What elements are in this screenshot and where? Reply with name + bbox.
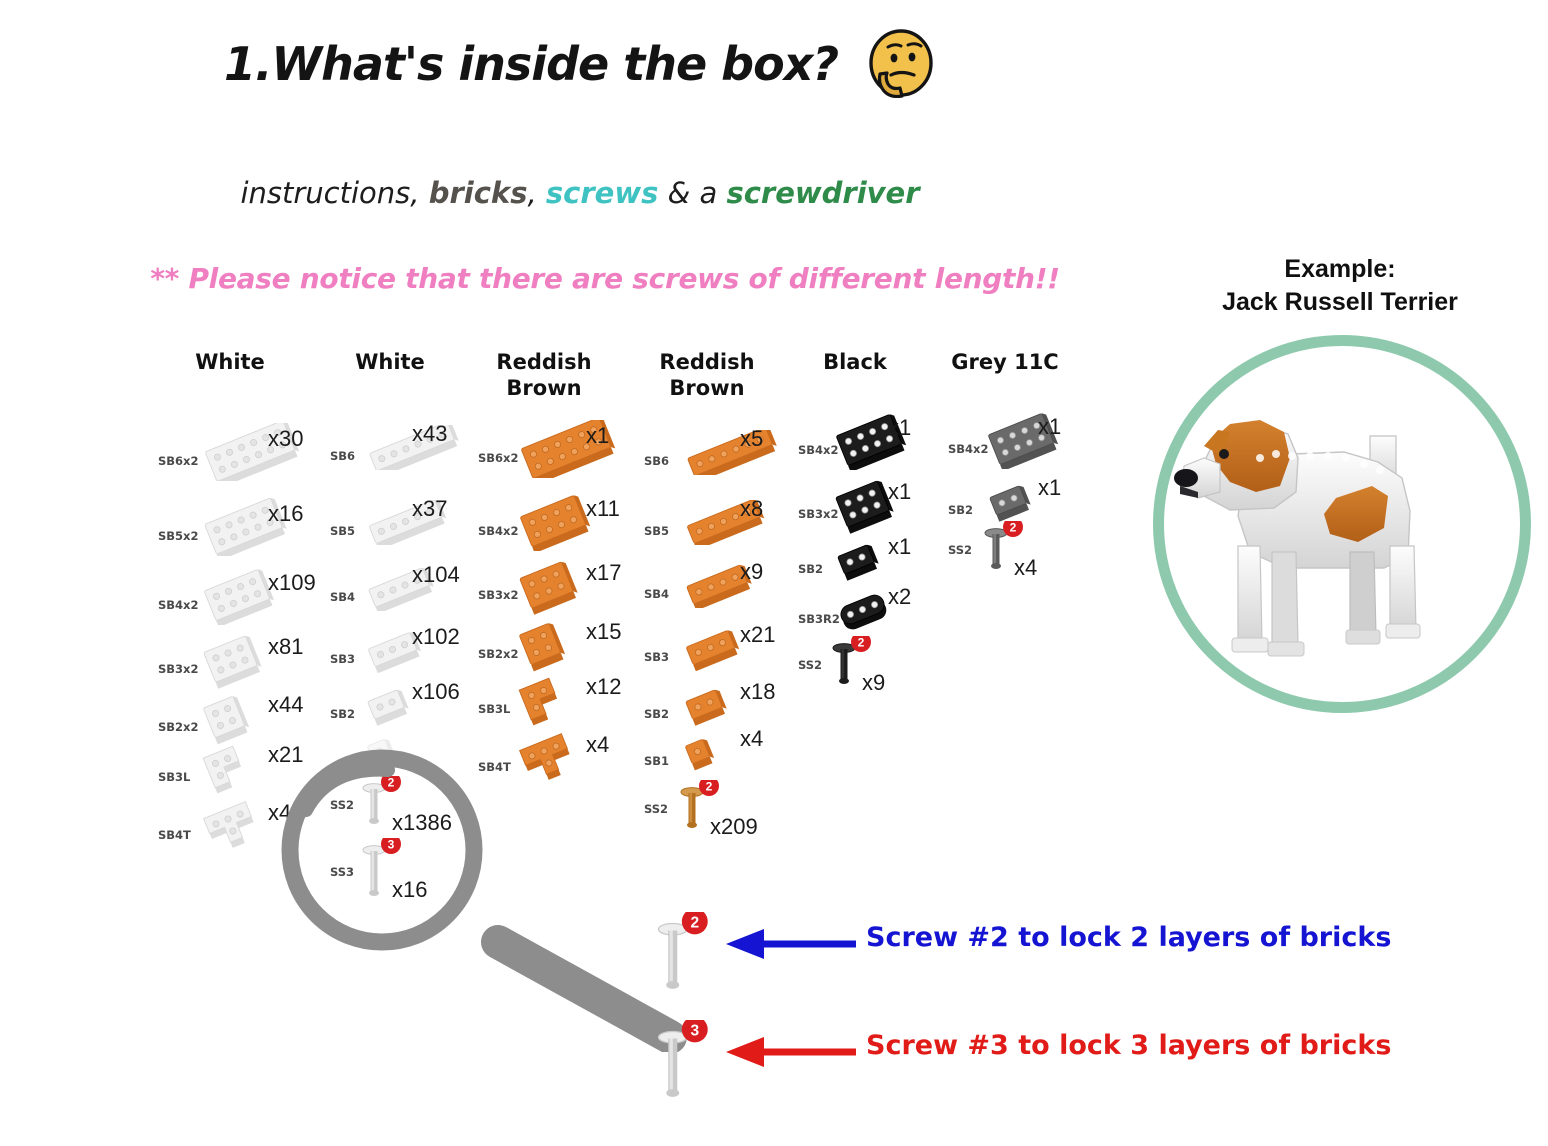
legend-screw-icon-2: 2: [652, 912, 722, 1032]
legend-arrow-2: [716, 924, 856, 964]
svg-text:3: 3: [690, 1022, 699, 1039]
legend-text-2: Screw #2 to lock 2 layers of bricks: [866, 922, 1391, 953]
screw-legend: 2Screw #2 to lock 2 layers of bricks3Scr…: [0, 0, 1548, 1146]
svg-text:2: 2: [690, 914, 699, 931]
legend-text-3: Screw #3 to lock 3 layers of bricks: [866, 1030, 1391, 1061]
legend-screw-icon-3: 3: [652, 1020, 722, 1140]
legend-arrow-3: [716, 1032, 856, 1072]
